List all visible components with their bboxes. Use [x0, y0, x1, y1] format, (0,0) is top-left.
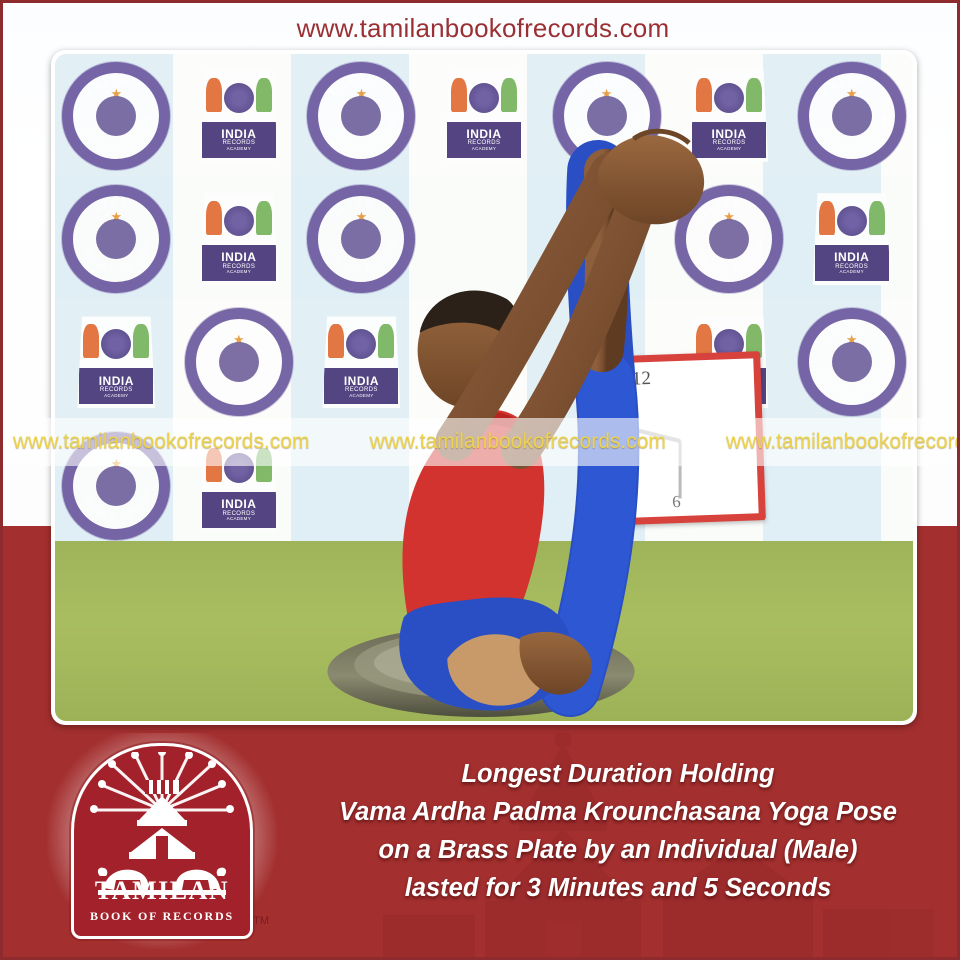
- caption-line-3: on a Brass Plate by an Individual (Male): [288, 831, 948, 869]
- tamilan-logo-shield: TAMILAN BOOK OF RECORDS: [71, 743, 253, 939]
- caption-line-1: Longest Duration Holding: [288, 755, 948, 793]
- record-caption: Longest Duration Holding Vama Ardha Padm…: [288, 755, 948, 907]
- site-url-header: www.tamilanbookofrecords.com: [3, 13, 960, 44]
- logo-name: TAMILAN: [74, 876, 250, 906]
- temple-gopuram-icon: [123, 780, 201, 866]
- watermark-text: www.tamilanbookofrecords.com: [716, 430, 960, 454]
- url-watermark-strip: www.tamilanbookofrecords.com www.tamilan…: [3, 418, 960, 466]
- watermark-text: www.tamilanbookofrecords.com: [3, 430, 359, 454]
- caption-line-2: Vama Ardha Padma Krounchasana Yoga Pose: [288, 793, 948, 831]
- watermark-text: www.tamilanbookofrecords.com: [359, 430, 715, 454]
- logo-trademark: TM: [253, 915, 269, 927]
- caption-line-4: lasted for 3 Minutes and 5 Seconds: [288, 869, 948, 907]
- record-photo: ★ ELITE WOR: [55, 54, 913, 721]
- photo-card: ★ ELITE WOR: [51, 50, 917, 725]
- record-poster: www.tamilanbookofrecords.com: [0, 0, 960, 960]
- athlete-yoga-pose: [55, 54, 913, 721]
- tamilan-logo: TAMILAN BOOK OF RECORDS TM: [47, 733, 277, 949]
- logo-subtitle: BOOK OF RECORDS: [74, 909, 250, 924]
